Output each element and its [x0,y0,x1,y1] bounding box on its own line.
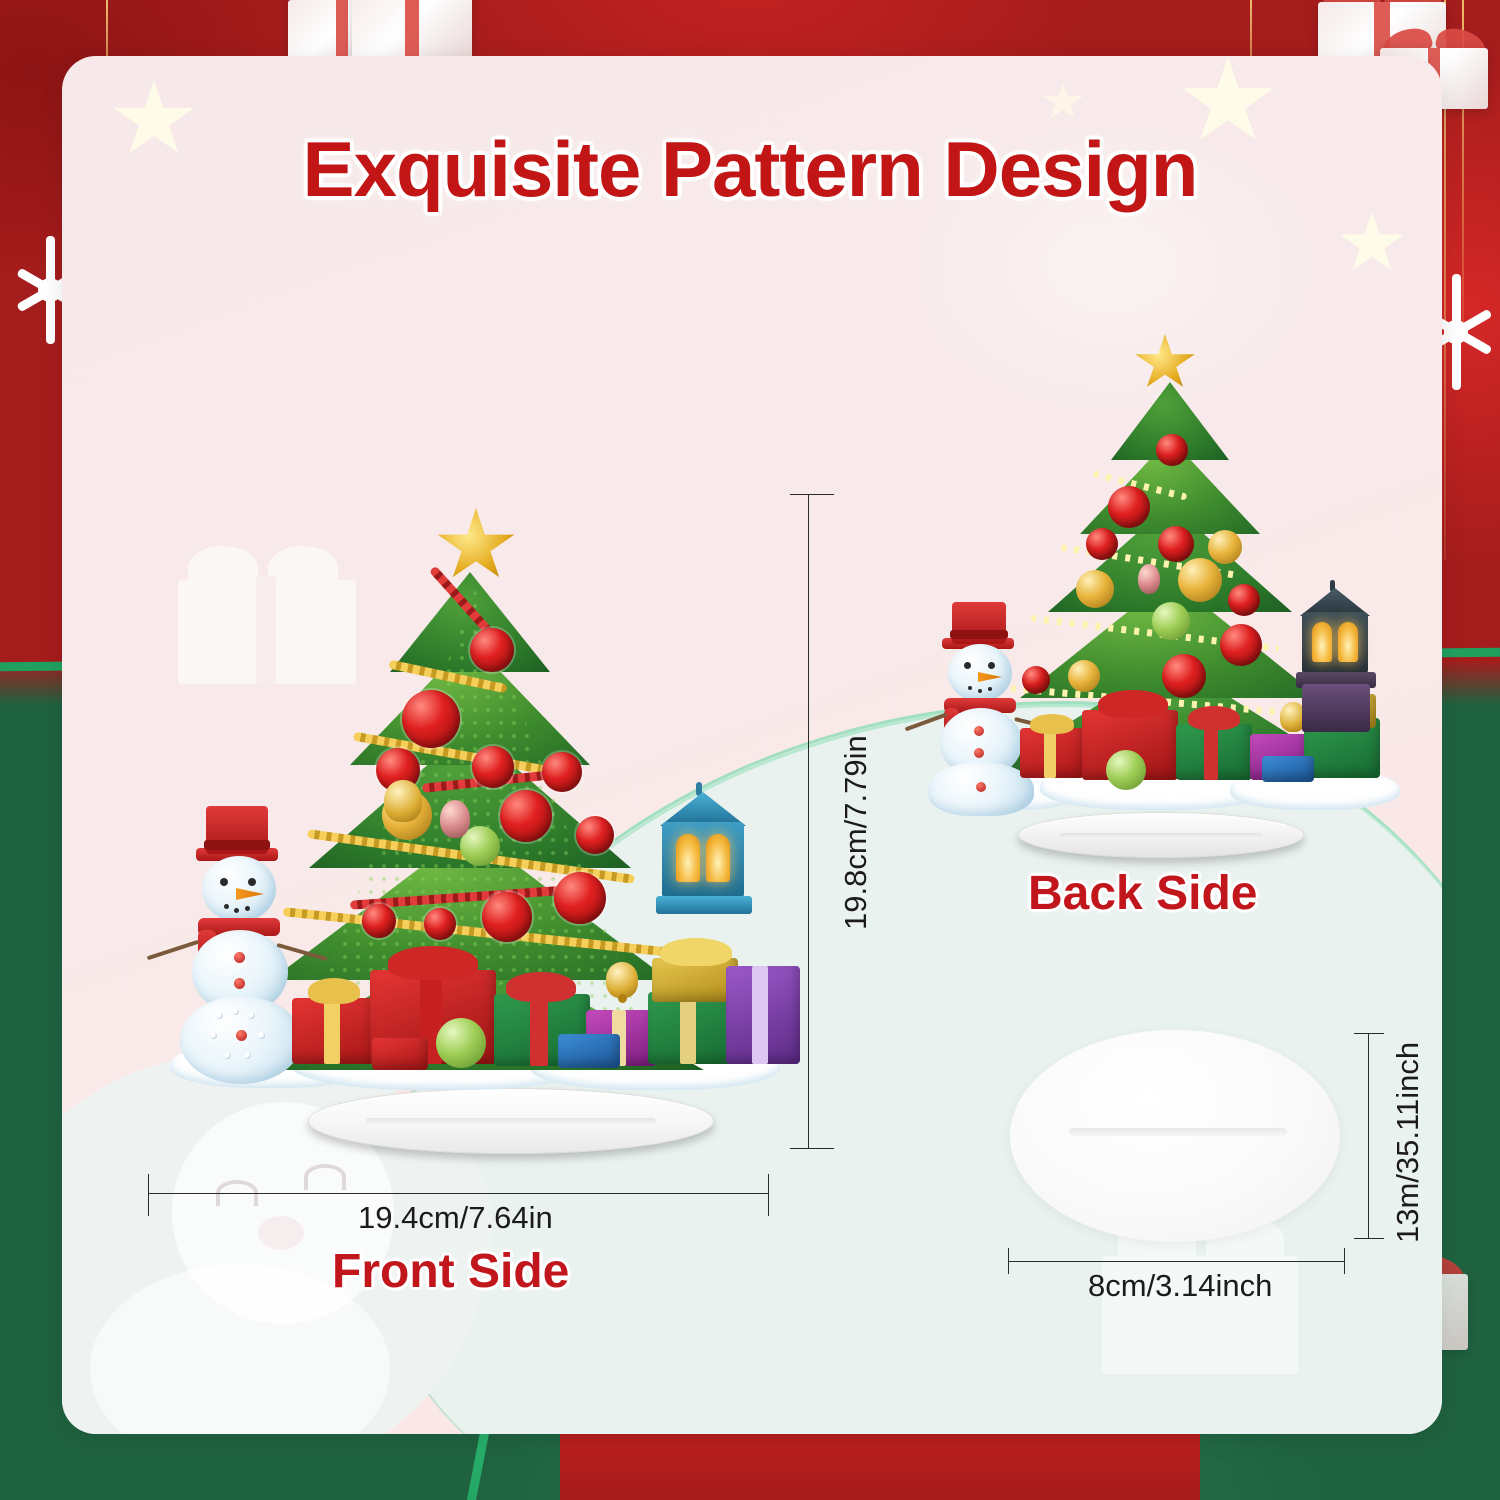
back-gift-bow-3 [1188,706,1240,730]
front-gift-bow-gold [660,938,732,966]
back-gift-blue-1 [1262,756,1314,782]
front-bauble-7 [576,816,614,854]
front-snowman-button-1 [234,952,245,963]
front-lantern-body [662,822,744,898]
back-ornament-8 [1022,666,1050,694]
product-front-side [140,500,800,1180]
back-ornament-gold-2 [1178,558,1222,602]
dim-base-height-line [1368,1033,1369,1238]
infographic-canvas: Exquisite Pattern Design [0,0,1500,1500]
front-bauble-5 [542,752,582,792]
front-bell-1 [606,962,638,998]
back-side-label: Back Side [1028,866,1257,921]
front-snowman-eye-left [220,878,228,886]
dim-base-height-cap-top [1354,1033,1384,1034]
back-ornament-2 [1108,486,1150,528]
back-ornament-green-1 [1152,602,1190,640]
back-snowman-button-1 [974,726,984,736]
back-ornament-1 [1156,434,1188,466]
back-gift-bow-2 [1098,690,1168,718]
back-ornament-figure [1138,564,1160,594]
back-ornament-5 [1228,584,1260,616]
front-gift-bow-3 [506,972,576,1002]
base-plate-slot [1069,1128,1287,1136]
front-gift-bow-2 [388,946,478,980]
front-gift-red-3 [372,1038,428,1070]
front-snowman-hat-band [204,840,270,850]
dim-width-cap-left [148,1174,149,1216]
back-ornament-6 [1220,624,1262,666]
dim-width-cap-right [768,1174,769,1216]
back-lantern-glow-right [1338,622,1358,662]
dim-base-height-cap-bottom [1354,1238,1384,1239]
dim-base-width-line [1008,1261,1344,1262]
back-acrylic-base [1018,812,1304,858]
front-snowman-button-2 [234,978,245,989]
back-snowman-hat-band [950,630,1008,639]
front-bell-2 [384,780,422,822]
front-bauble-1 [470,628,514,672]
back-ornament-gold-4 [1068,660,1100,692]
back-lantern-glow-left [1312,622,1332,662]
back-base-slot [1059,833,1263,839]
dim-base-height-label: 13m/35.11inch [1390,1042,1426,1243]
front-lantern-glow-right [706,834,730,882]
front-bauble-11 [424,908,456,940]
front-ornament-pink [440,800,470,838]
dim-base-width-label: 8cm/3.14inch [1088,1268,1272,1304]
front-gift-band-3 [530,994,548,1066]
front-snowman-eye-right [248,878,256,886]
watermark-nose [258,1216,304,1250]
dim-base-width-cap-right [1344,1248,1345,1274]
front-gift-band-1 [324,998,340,1064]
base-plate-oval [1010,1030,1340,1242]
dim-height-cap-bottom [790,1148,834,1149]
page-title: Exquisite Pattern Design [0,124,1500,215]
base-plate-detail [1010,1030,1340,1260]
back-ornament-4 [1158,526,1194,562]
front-bauble-4 [472,746,514,788]
front-gift-bow-1 [308,978,360,1004]
back-ornament-gold-3 [1076,570,1114,608]
front-bauble-2 [402,690,460,748]
back-ornament-3 [1086,528,1118,560]
front-bauble-8 [554,872,606,924]
product-back-side [910,330,1410,850]
dim-height-label: 19.8cm/7.79in [838,735,874,930]
back-snowman-eye-right [988,662,995,669]
back-snowman-button-2 [974,748,984,758]
dim-width-line [148,1193,768,1194]
back-gift-bow-1 [1030,714,1074,734]
front-lantern-glow-left [676,834,700,882]
front-snowman-button-3 [236,1030,247,1041]
back-snowman-eye-left [964,662,971,669]
front-gift-blue-1 [558,1034,620,1068]
front-side-label: Front Side [332,1244,569,1299]
front-bauble-6 [500,790,552,842]
back-ornament-7 [1162,654,1206,698]
front-bauble-ground-green [436,1018,486,1068]
dim-width-label: 19.4cm/7.64in [358,1200,553,1236]
front-bauble-10 [362,904,396,938]
dim-height-cap-top [790,494,834,495]
dim-base-width-cap-left [1008,1248,1009,1274]
back-snowman-button-3 [976,782,986,792]
front-bauble-9 [482,892,532,942]
back-ornament-gold-1 [1208,530,1242,564]
back-bauble-ground-green [1106,750,1146,790]
front-base-slot [366,1118,657,1124]
dim-height-line [808,494,809,1148]
